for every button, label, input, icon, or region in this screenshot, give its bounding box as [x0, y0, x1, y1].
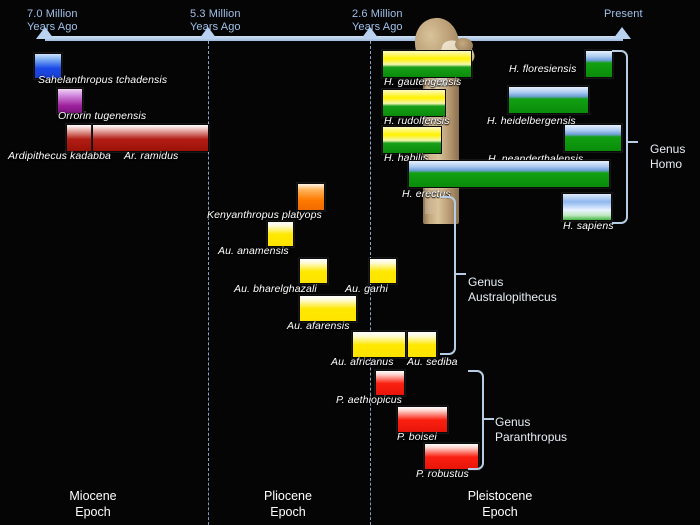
- bracket-homo: [612, 50, 628, 224]
- species-label-kenyanthropus-platyops: Kenyanthropus platyops: [207, 209, 322, 221]
- species-bar-h-heidelbergensis[interactable]: [508, 86, 589, 114]
- species-label-au-sediba: Au. sediba: [407, 356, 458, 368]
- species-label-ar-ramidus: Ar. ramidus: [124, 150, 178, 162]
- species-bar-h-floresiensis[interactable]: [585, 50, 613, 78]
- species-bar-au-afarensis[interactable]: [299, 295, 357, 322]
- species-label-p-aethiopicus: P. aethiopicus: [336, 394, 402, 406]
- bracket-stub-paranthropus: [482, 418, 494, 420]
- species-label-au-africanus: Au. africanus: [331, 356, 394, 368]
- timeline-tick-label-2: 2.6 Million Years Ago: [352, 8, 403, 34]
- species-label-orrorin-tugenensis: Orrorin tugenensis: [58, 110, 146, 122]
- species-bar-p-boisei[interactable]: [397, 406, 448, 433]
- species-bar-ar-ramidus[interactable]: [92, 124, 209, 152]
- epoch-separator-pliocene-pleistocene: [370, 473, 371, 525]
- species-label-au-afarensis: Au. afarensis: [287, 320, 350, 332]
- species-label-h-heidelbergensis: H. heidelbergensis: [487, 115, 576, 127]
- epoch-separator-miocene-pliocene: [208, 473, 209, 525]
- species-bar-kenyanthropus-platyops[interactable]: [297, 183, 325, 211]
- bracket-stub-australopithecus: [454, 273, 466, 275]
- species-bar-h-habilis[interactable]: [382, 126, 442, 154]
- species-label-h-gautengensis: H. gautengensis: [384, 76, 461, 88]
- species-bar-au-sediba[interactable]: [407, 331, 437, 358]
- species-label-p-robustus: P. robustus: [416, 468, 469, 480]
- epoch-label-0: Miocene Epoch: [23, 488, 163, 520]
- timeline-vline-2: [370, 41, 371, 471]
- species-bar-au-bharelghazali[interactable]: [299, 258, 328, 284]
- species-bar-h-sapiens[interactable]: [562, 193, 612, 221]
- epoch-label-1: Pliocene Epoch: [218, 488, 358, 520]
- timeline-vline-1: [208, 41, 209, 471]
- timeline-arrow-3: [613, 27, 631, 39]
- epoch-label-2: Pleistocene Epoch: [430, 488, 570, 520]
- hominin-timeline-chart: 7.0 Million Years Ago5.3 Million Years A…: [0, 0, 700, 525]
- species-bar-ardipithecus-kadabba[interactable]: [66, 124, 92, 152]
- bracket-australopithecus: [440, 196, 456, 355]
- species-bar-h-rudolfensis[interactable]: [382, 89, 446, 117]
- species-bar-au-anamensis[interactable]: [267, 221, 294, 247]
- timeline-tick-label-3: Present: [604, 8, 643, 21]
- timeline-axis: [45, 36, 623, 41]
- species-label-au-bharelghazali: Au. bharelghazali: [234, 283, 317, 295]
- species-label-h-sapiens: H. sapiens: [563, 220, 614, 232]
- genus-label-0: Genus Homo: [650, 142, 685, 172]
- timeline-tick-label-1: 5.3 Million Years Ago: [190, 8, 241, 34]
- species-bar-h-gautengensis[interactable]: [382, 50, 472, 78]
- species-label-sahelanthropus-tchadensis: Sahelanthropus tchadensis: [38, 74, 167, 86]
- timeline-tick-label-0: 7.0 Million Years Ago: [27, 8, 78, 34]
- genus-label-2: Genus Paranthropus: [495, 415, 567, 445]
- bracket-stub-homo: [626, 141, 638, 143]
- bracket-paranthropus: [468, 370, 484, 470]
- species-label-h-floresiensis: H. floresiensis: [509, 63, 576, 75]
- genus-label-1: Genus Australopithecus: [468, 275, 557, 305]
- species-bar-au-garhi[interactable]: [369, 258, 397, 284]
- species-bar-au-africanus[interactable]: [352, 331, 406, 358]
- species-bar-h-erectus[interactable]: [408, 160, 610, 188]
- species-label-p-boisei: P. boisei: [397, 431, 437, 443]
- species-bar-p-aethiopicus[interactable]: [375, 370, 405, 396]
- species-label-au-garhi: Au. garhi: [345, 283, 388, 295]
- species-label-au-anamensis: Au. anamensis: [218, 245, 289, 257]
